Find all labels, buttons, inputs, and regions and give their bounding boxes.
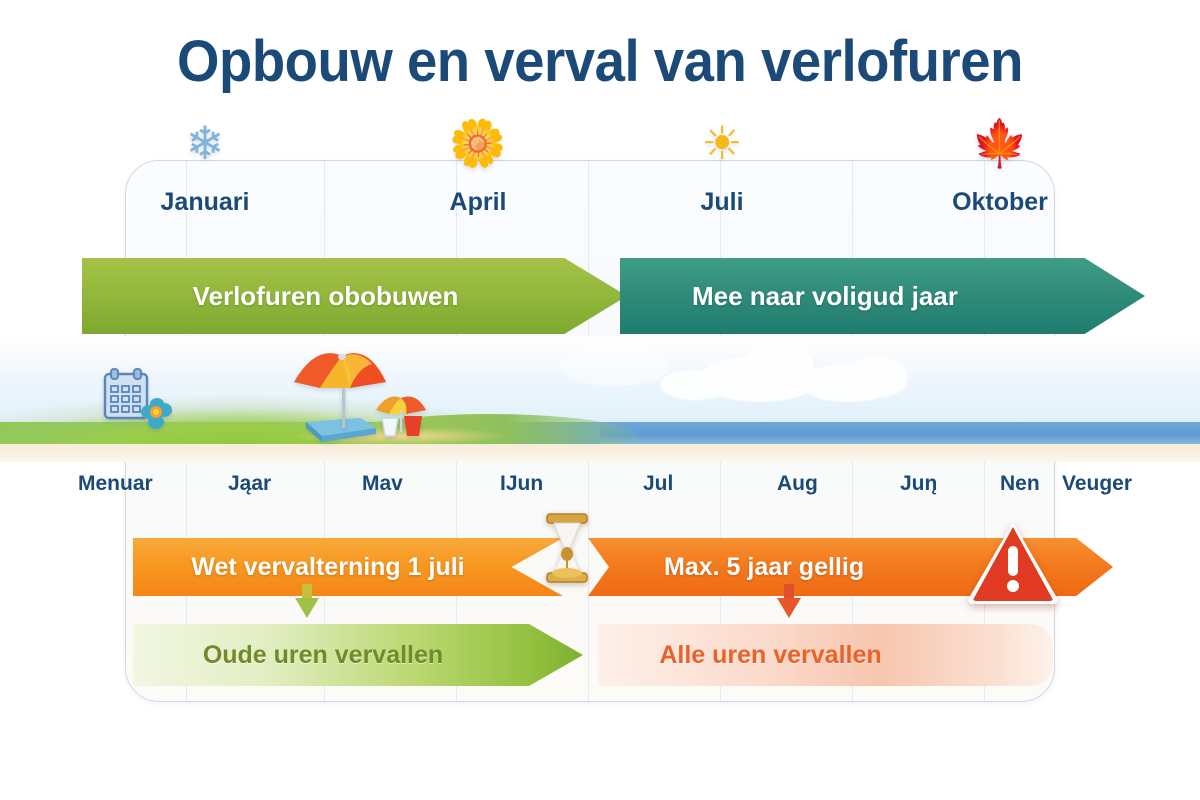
month-label-6: Aug [777,472,818,496]
page-title: Opbouw en verval van verlofuren [36,28,1164,95]
month-label-1: Menuar [78,472,153,496]
maple-leaf-icon: 🍁 [910,120,1090,166]
carryover-arrow-label: Mee naar voligud jaar [620,281,958,312]
month-label-3: Mav [362,472,403,496]
month-label-5: Jul [643,472,673,496]
season-marker-oktober[interactable]: 🍁 Oktober [910,120,1090,217]
month-label-7: Jun̨ [900,472,937,496]
season-marker-januari[interactable]: ❄ Januari [115,120,295,217]
down-arrow-connector-green [294,584,320,620]
season-marker-juli[interactable]: ☀ Juli [632,120,812,217]
month-label-8: Nen [1000,472,1040,496]
month-label-4: IJun [500,472,543,496]
season-label: April [388,188,568,217]
all-hours-expire-label: Alle uren vervallen [598,641,1053,670]
month-label-2: Jąar [228,472,271,496]
hourglass-icon [541,512,593,584]
flower-icon [140,398,174,430]
carryover-arrow[interactable]: Mee naar voligud jaar [620,258,1145,334]
all-hours-expire-band[interactable]: Alle uren vervallen [598,624,1053,686]
cloud-icon [846,356,908,398]
illustration-scene [0,336,1200,462]
accrual-arrow-label: Verlofuren obobuwen [82,281,627,312]
sun-icon: ☀ [632,120,812,166]
flower-icon: 🌼 [388,120,568,166]
statutory-expiry-label: Wet vervalterning 1 juli [133,553,563,582]
accrual-arrow[interactable]: Verlofuren obobuwen [82,258,627,334]
month-label-9: Veuger [1062,472,1132,496]
warning-triangle-icon[interactable] [966,518,1060,606]
old-hours-expire-band[interactable]: Oude uren vervallen [133,624,583,686]
season-label: Oktober [910,188,1090,217]
statutory-expiry-arrow[interactable]: Wet vervalterning 1 juli [133,538,563,596]
old-hours-expire-label: Oude uren vervallen [133,641,583,670]
season-label: Januari [115,188,295,217]
season-marker-april[interactable]: 🌼 April [388,120,568,217]
infographic-canvas: Opbouw en verval van verlofuren ❄ Januar… [0,0,1200,800]
down-arrow-connector-red [776,584,802,620]
cloud-icon [560,346,670,386]
small-umbrella-icon [372,390,430,442]
season-label: Juli [632,188,812,217]
cloud-icon [660,370,730,400]
sand-strip [0,444,1200,462]
snowflake-icon: ❄ [115,120,295,166]
